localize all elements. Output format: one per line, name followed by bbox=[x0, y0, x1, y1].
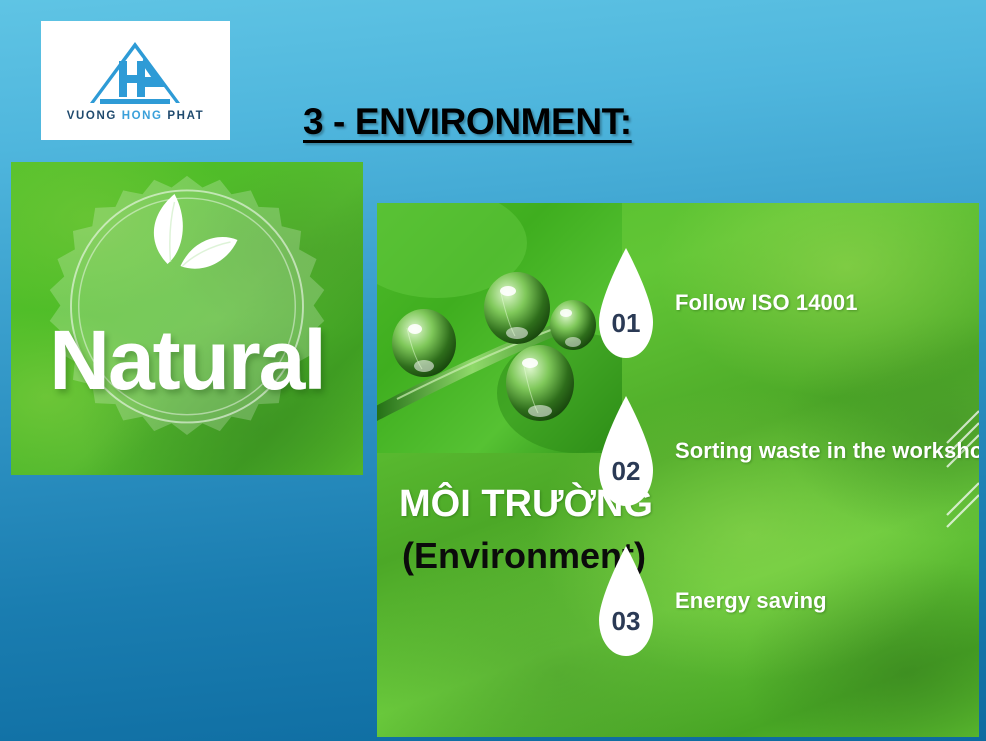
page-title: 3 - ENVIRONMENT: bbox=[303, 101, 632, 143]
list-item[interactable]: 03 Energy saving bbox=[595, 541, 975, 661]
brand-part-3: PHAT bbox=[167, 110, 204, 122]
item-number: 01 bbox=[595, 308, 657, 339]
water-drop-icon: 03 bbox=[595, 544, 657, 659]
item-label: Sorting waste in the workshop bbox=[675, 438, 979, 464]
natural-wordmark: Natural bbox=[49, 318, 324, 402]
environment-image-panel: MÔI TRƯỜNG (Environment) 01 Follow ISO 1… bbox=[377, 203, 979, 737]
brand-name: VUONG HONG PHAT bbox=[67, 110, 205, 122]
item-number: 02 bbox=[595, 456, 657, 487]
item-label: Follow ISO 14001 bbox=[675, 290, 858, 316]
list-item[interactable]: 01 Follow ISO 14001 bbox=[595, 243, 975, 363]
brand-part-1: VUONG bbox=[67, 110, 122, 122]
vhp-triangle-logo-icon bbox=[88, 39, 184, 107]
natural-logo-panel: Natural bbox=[11, 162, 363, 475]
water-drop-icon: 01 bbox=[595, 246, 657, 361]
item-label: Energy saving bbox=[675, 588, 827, 614]
brand-part-2: HONG bbox=[122, 110, 168, 122]
water-drop-icon: 02 bbox=[595, 394, 657, 509]
slide-canvas: VUONG HONG PHAT 3 - ENVIRONMENT: bbox=[0, 0, 986, 741]
company-logo-card: VUONG HONG PHAT bbox=[41, 21, 230, 140]
water-droplets-on-grass-blade-photo bbox=[377, 203, 622, 453]
two-leaves-icon bbox=[135, 192, 240, 287]
list-item[interactable]: 02 Sorting waste in the workshop bbox=[595, 391, 975, 511]
item-number: 03 bbox=[595, 606, 657, 637]
